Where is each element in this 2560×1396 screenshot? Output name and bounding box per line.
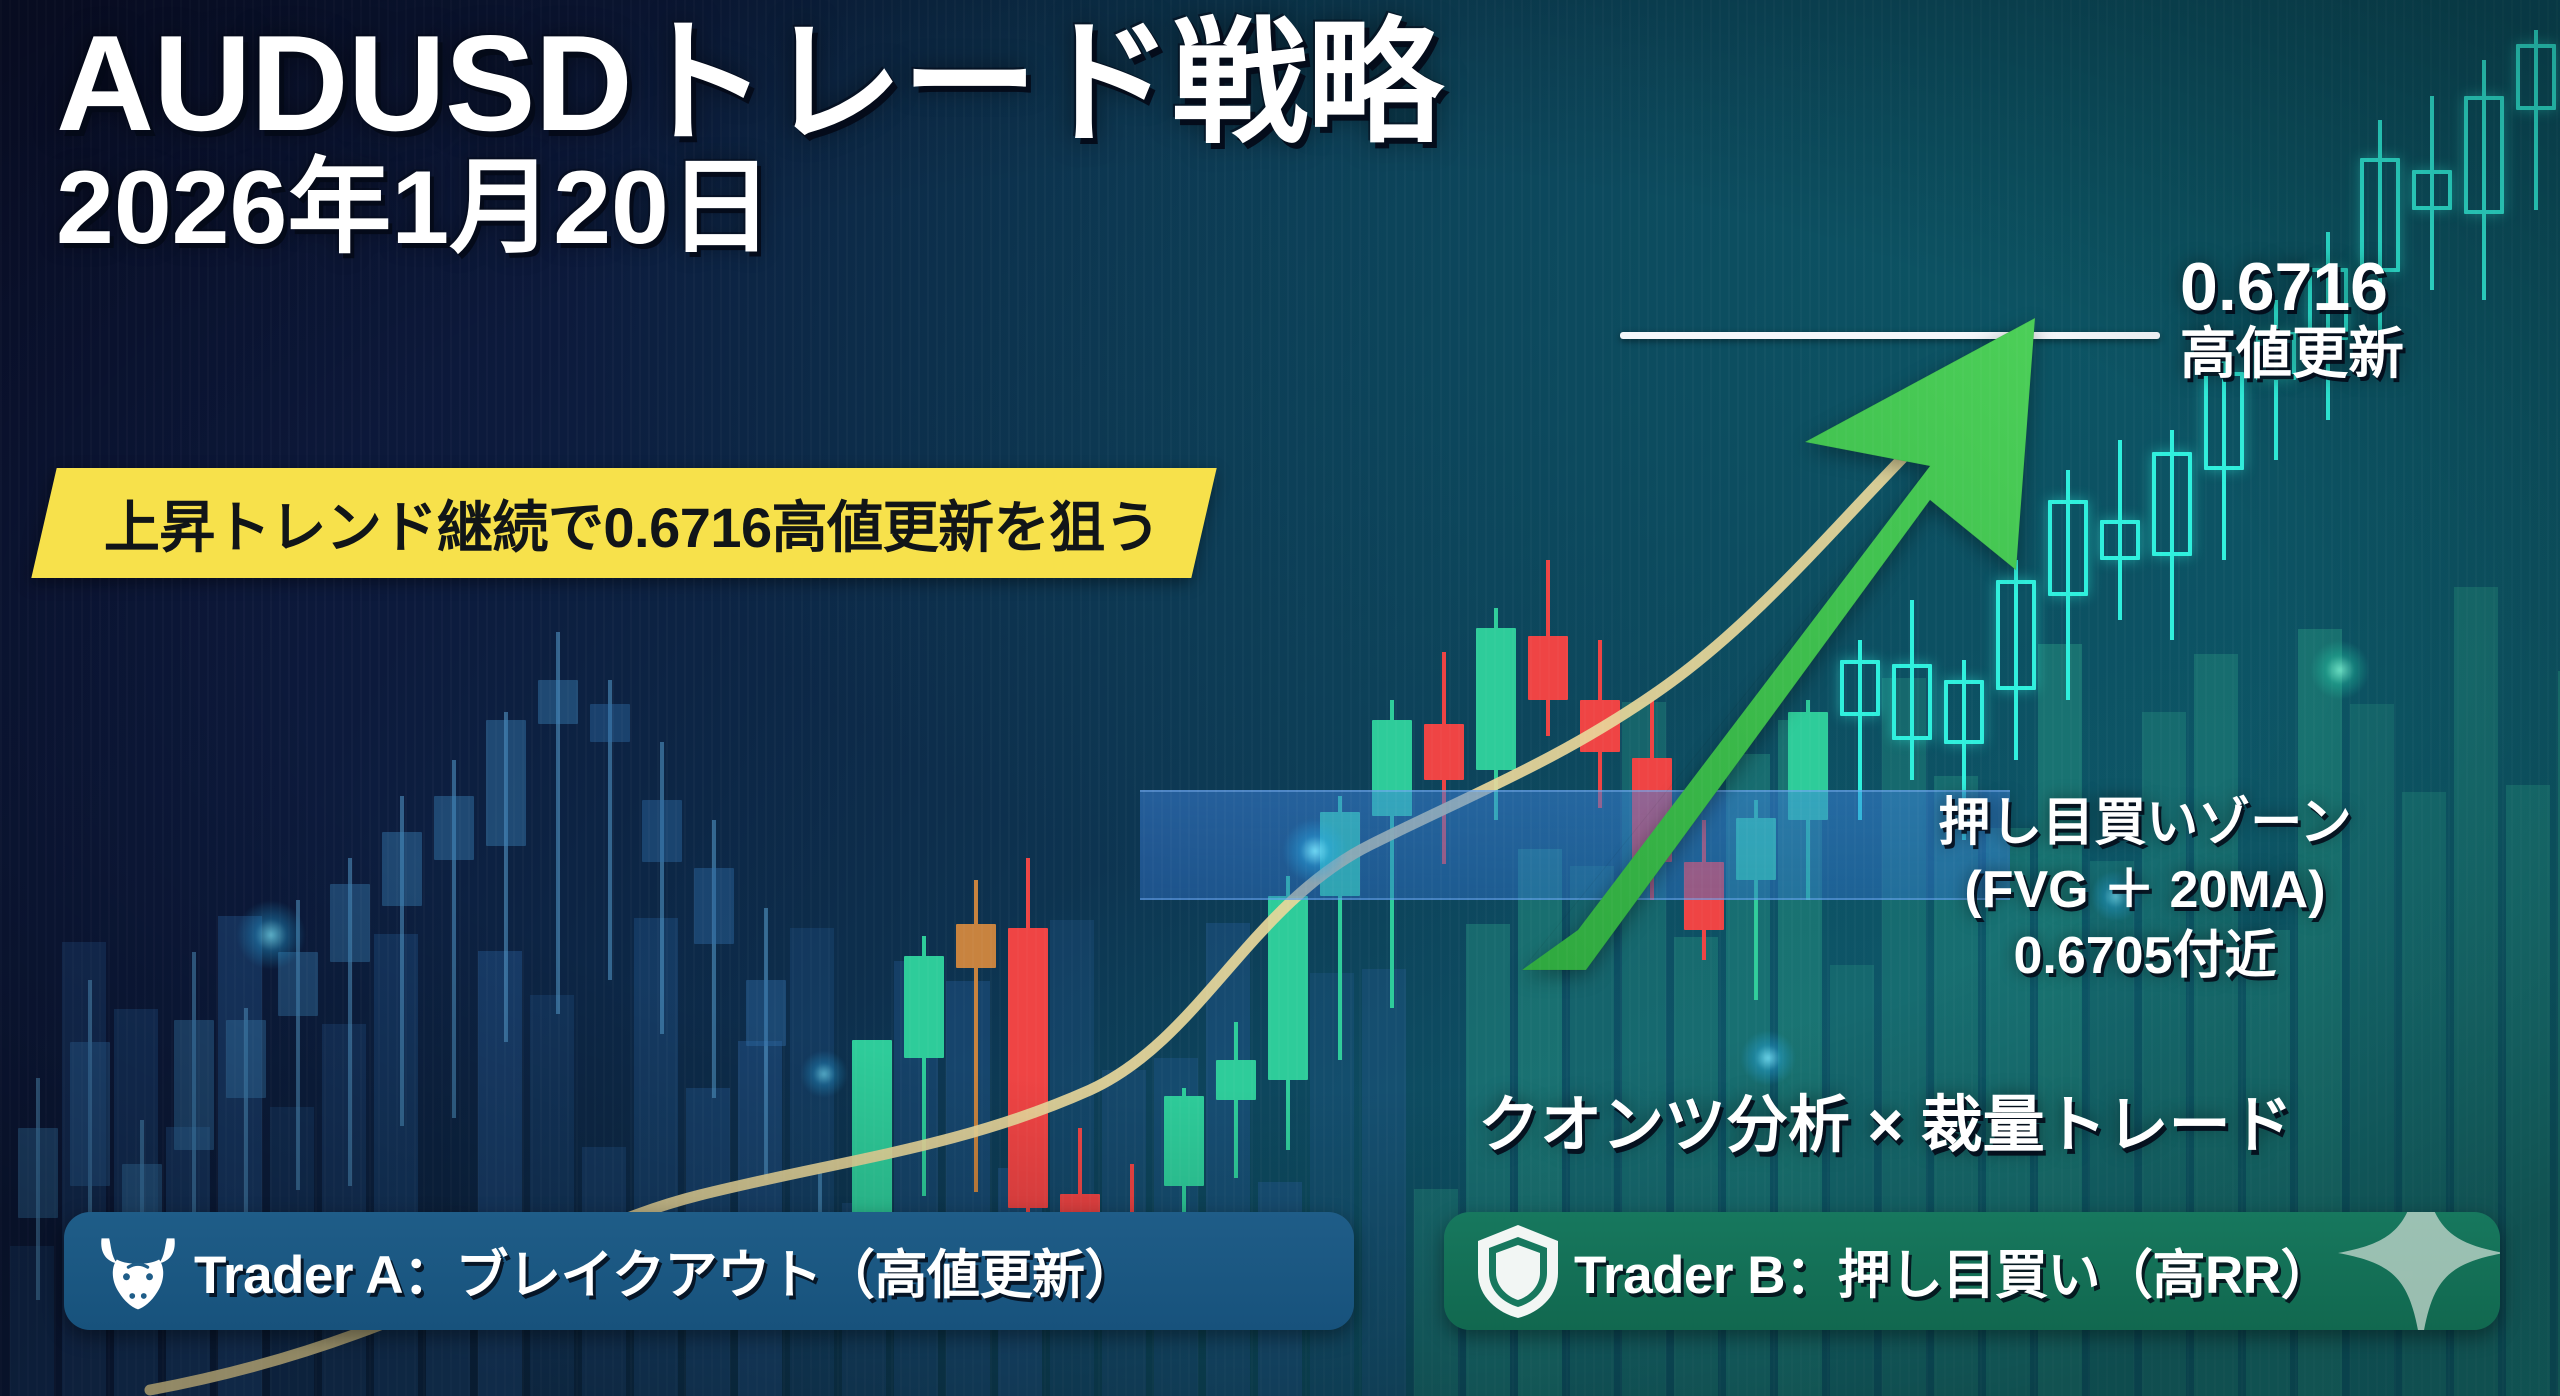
chart-glow-dot	[236, 900, 306, 970]
high-price-caption: 高値更新	[2180, 323, 2404, 386]
candle-body	[1164, 1096, 1204, 1186]
candlestick	[2100, 0, 2140, 1396]
sparkle-icon	[2336, 1212, 2500, 1330]
candle-body	[904, 956, 944, 1058]
badge-trader-a[interactable]: Trader A：ブレイクアウト（高値更新）	[64, 1212, 1354, 1330]
candle-body	[486, 720, 526, 846]
candle-body	[18, 1128, 58, 1218]
highlight-ribbon-text: 上昇トレンド継続で0.6716高値更新を狙う	[104, 483, 1160, 564]
page-title: AUDUSDトレード戦略	[56, 14, 1442, 153]
candle-body	[2516, 44, 2556, 110]
page-subtitle-date: 2026年1月20日	[56, 155, 1442, 261]
candle-body	[1268, 896, 1308, 1080]
badge-trader-b-label: Trader B：押し目買い（高RR）	[1574, 1233, 2333, 1309]
candle-body	[2464, 96, 2504, 214]
buy-zone-line2: (FVG ＋ 20MA)	[1800, 857, 2490, 924]
candle-body	[174, 1020, 214, 1150]
high-price-label: 0.6716 高値更新	[2180, 252, 2404, 386]
badge-trader-b[interactable]: Trader B：押し目買い（高RR）	[1444, 1212, 2500, 1330]
buy-zone-label: 押し目買いゾーン (FVG ＋ 20MA) 0.6705付近	[1800, 790, 2490, 990]
bull-head-icon	[82, 1223, 194, 1319]
candle-body	[590, 704, 630, 742]
candlestick	[2256, 0, 2296, 1396]
candle-body	[330, 884, 370, 962]
badge-trader-a-label: Trader A：ブレイクアウト（高値更新）	[194, 1233, 1137, 1309]
chart-glow-dot	[2310, 640, 2370, 700]
candlestick	[2204, 0, 2244, 1396]
buy-zone-line1: 押し目買いゾーン	[1800, 790, 2490, 857]
candle-body	[746, 980, 786, 1046]
candle-wick	[660, 742, 664, 1034]
candle-body	[2100, 520, 2140, 560]
candle-body	[1008, 928, 1048, 1208]
shield-icon	[1462, 1221, 1574, 1321]
chart-glow-dot	[1282, 818, 1348, 884]
candle-wick	[712, 820, 716, 1098]
candle-body	[2204, 372, 2244, 470]
candle-body	[226, 1020, 266, 1098]
chart-glow-dot	[800, 1050, 848, 1098]
candlestick	[18, 0, 58, 1396]
candle-body	[1216, 1060, 1256, 1100]
candle-body	[382, 832, 422, 906]
candle-body	[956, 924, 996, 968]
candle-body	[1424, 724, 1464, 780]
highlight-ribbon: 上昇トレンド継続で0.6716高値更新を狙う	[31, 468, 1217, 578]
candlestick	[2360, 0, 2400, 1396]
title-block: AUDUSDトレード戦略 2026年1月20日	[56, 14, 1442, 261]
candle-body	[434, 796, 474, 860]
candle-body	[538, 680, 578, 724]
poster-canvas: AUDUSDトレード戦略 2026年1月20日 上昇トレンド継続で0.6716高…	[0, 0, 2560, 1396]
candle-wick	[1234, 1022, 1238, 1178]
candle-body	[642, 800, 682, 862]
candle-body	[694, 868, 734, 944]
candle-body	[2412, 170, 2452, 210]
candle-body	[2152, 452, 2192, 556]
tagline: クオンツ分析 × 裁量トレード	[1478, 1074, 2293, 1164]
candlestick	[2516, 0, 2556, 1396]
buy-zone-line3: 0.6705付近	[1800, 923, 2490, 990]
candlestick	[2152, 0, 2192, 1396]
candlestick	[2464, 0, 2504, 1396]
candle-body	[70, 1042, 110, 1186]
high-price-value: 0.6716	[2180, 252, 2404, 323]
candlestick	[2412, 0, 2452, 1396]
